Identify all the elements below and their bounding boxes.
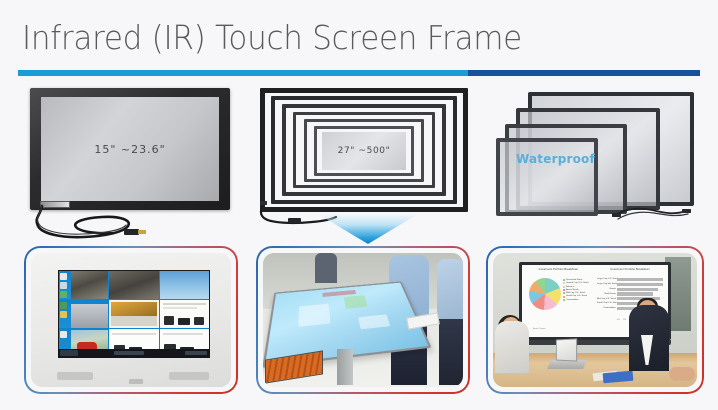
legend-swatch bbox=[563, 286, 565, 288]
product-card-small-size-ir-frame[interactable]: 15" ~23.6" bbox=[24, 84, 240, 242]
bar-label: Bonds bbox=[597, 288, 616, 290]
pie-chart-graphic bbox=[529, 278, 561, 310]
video-wall-cell bbox=[109, 271, 158, 299]
video-wall-taskbar bbox=[58, 349, 210, 358]
ir-frame-bezel: 15" ~23.6" bbox=[30, 88, 230, 210]
legend-item: Diversified Stock bbox=[563, 279, 589, 281]
legend-item: Small-Cap U.S. Stock bbox=[563, 295, 589, 297]
divider-segment-secondary bbox=[468, 70, 700, 76]
pie-chart-legend: Diversified Stock Growth Cap U.S. Stock … bbox=[563, 279, 589, 301]
legend-label: Active Bonds bbox=[566, 289, 579, 291]
divider-segment-primary bbox=[18, 70, 468, 76]
pie-chart-title: Investment Portfolio Breakdown bbox=[525, 269, 592, 272]
participant-left-body bbox=[495, 321, 529, 373]
title-divider bbox=[18, 70, 700, 76]
legend-label: Small-Cap U.S. Stock bbox=[566, 295, 587, 297]
usb-cable bbox=[28, 204, 158, 242]
legend-item: Active Bonds bbox=[563, 289, 589, 291]
bar-row: Real Estate bbox=[597, 292, 663, 295]
bar bbox=[617, 283, 663, 286]
bar bbox=[617, 292, 653, 295]
stack-frame-small bbox=[496, 138, 598, 216]
axis-tick: 5% bbox=[623, 319, 626, 321]
legend-swatch bbox=[563, 279, 565, 281]
bar-row: Bonds bbox=[597, 288, 663, 291]
bar-label: Large-Cap Int'l Stock bbox=[597, 283, 616, 285]
waterproof-label: Waterproof bbox=[516, 152, 595, 166]
person-standing-back bbox=[437, 259, 463, 321]
legend-swatch bbox=[563, 299, 565, 301]
stand-base-right bbox=[169, 372, 209, 380]
legend-label: Diversified Stock bbox=[566, 279, 582, 281]
bar bbox=[617, 278, 663, 281]
product-card-waterproof-ir-frame[interactable]: Waterproof bbox=[494, 84, 706, 242]
bar bbox=[617, 288, 657, 291]
bar-label: Real Estate bbox=[597, 293, 616, 295]
bar-row: Large-Cap U.S. Stock bbox=[597, 278, 663, 281]
laptop-base bbox=[547, 360, 587, 369]
page-title: Infrared (IR) Touch Screen Frame bbox=[22, 18, 522, 57]
bar-label: Large-Cap U.S. Stock bbox=[597, 278, 616, 280]
legend-swatch bbox=[563, 296, 565, 298]
ir-frame-glass: 15" ~23.6" bbox=[41, 97, 219, 201]
pie-chart: Investment Portfolio Breakdown Diversifi… bbox=[525, 269, 592, 333]
video-wall-cell bbox=[59, 300, 108, 328]
legend-swatch bbox=[563, 292, 565, 294]
legend-swatch bbox=[563, 289, 565, 291]
video-wall-cell bbox=[160, 300, 209, 328]
nested-ir-frames: 27" ~500" bbox=[260, 88, 470, 214]
bar-label: Commodities bbox=[597, 307, 616, 309]
legend-swatch bbox=[563, 282, 565, 284]
legend-item: Growth Cap U.S. Stock bbox=[563, 282, 589, 284]
video-wall-cell bbox=[59, 271, 108, 299]
product-size-label: 15" ~23.6" bbox=[94, 143, 165, 156]
interactive-table-photo bbox=[263, 253, 463, 387]
person-standing-back-legs bbox=[439, 319, 463, 385]
video-wall-cell bbox=[160, 271, 209, 299]
video-wall-screen bbox=[58, 270, 210, 358]
presenter-hands bbox=[669, 367, 695, 381]
legend-item: Balance bbox=[563, 286, 589, 288]
stand-foot bbox=[129, 379, 143, 384]
application-image-row: Investment Portfolio Breakdown Diversifi… bbox=[0, 246, 718, 398]
legend-label: Growth Cap U.S. Stock bbox=[566, 282, 589, 284]
video-wall-cell bbox=[109, 300, 158, 328]
video-wall-photo bbox=[31, 253, 231, 387]
nested-frame-core: 27" ~500" bbox=[322, 132, 406, 170]
background-person bbox=[315, 253, 337, 283]
pie-chart-footnote: Asset Classes bbox=[533, 328, 546, 330]
bar-row: Large-Cap Int'l Stock bbox=[597, 283, 663, 286]
axis-tick: 0% bbox=[617, 319, 620, 321]
conference-room-photo: Investment Portfolio Breakdown Diversifi… bbox=[493, 253, 697, 387]
bar-label: Small-Cap U.S. Stock bbox=[597, 302, 616, 304]
legend-label: Commodities bbox=[566, 299, 579, 301]
stand-base-left bbox=[57, 372, 93, 380]
bar-label: Mid-Cap U.S. Stock bbox=[597, 298, 616, 300]
application-card-conference-room[interactable]: Investment Portfolio Breakdown Diversifi… bbox=[486, 246, 704, 394]
bar-chart-title: Investment Portfolio Breakdown bbox=[595, 269, 665, 272]
product-size-label: 27" ~500" bbox=[338, 146, 391, 156]
legend-item: Commodities bbox=[563, 299, 589, 301]
laptop-screen bbox=[556, 338, 577, 361]
application-card-video-wall[interactable] bbox=[24, 246, 238, 394]
touch-table-stand bbox=[337, 349, 353, 385]
legend-label: Balance bbox=[566, 286, 574, 288]
application-card-interactive-table[interactable] bbox=[256, 246, 470, 394]
usb-cable bbox=[612, 202, 692, 224]
